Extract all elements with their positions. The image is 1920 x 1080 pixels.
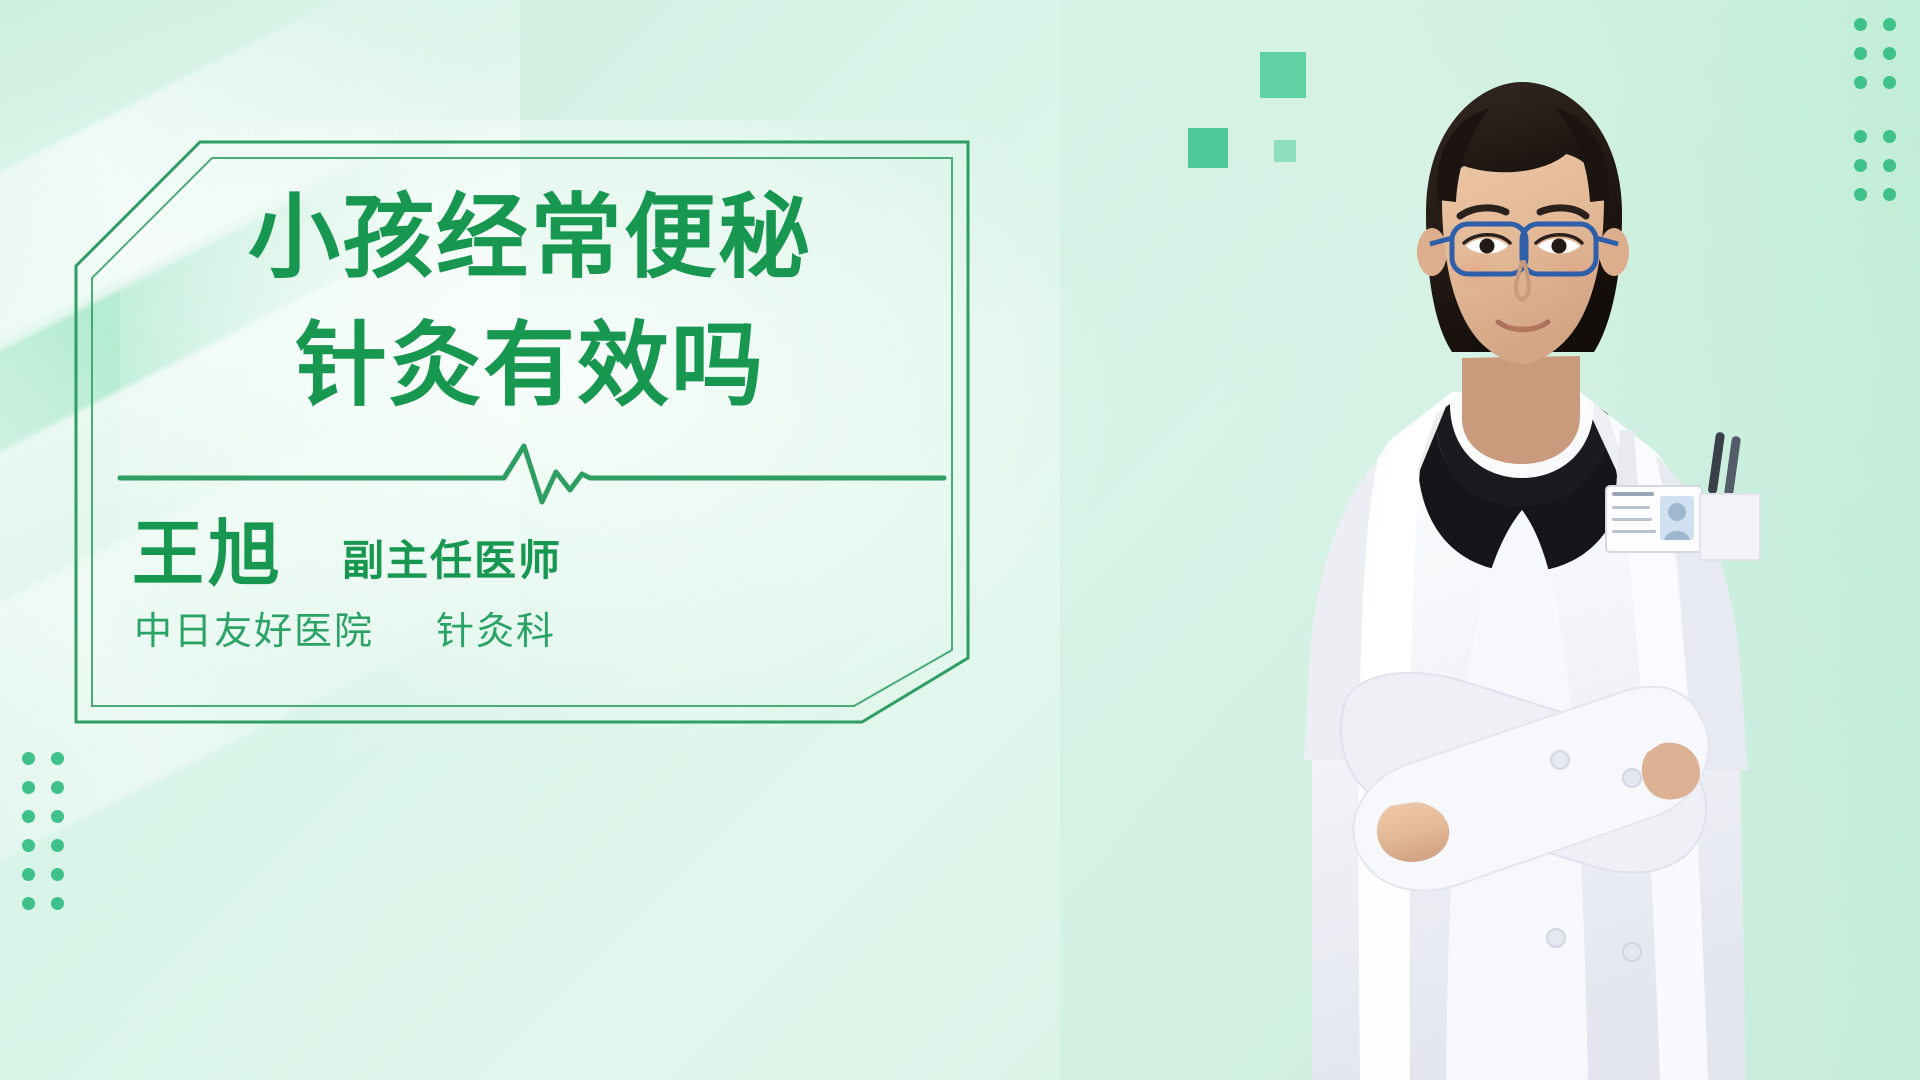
dot: [1854, 188, 1867, 201]
dot-grid-right-top: [1854, 18, 1896, 89]
dot: [1883, 76, 1896, 89]
dot: [51, 868, 64, 881]
department-name: 针灸科: [436, 612, 556, 650]
doctor-affiliation-row: 中日友好医院 针灸科: [134, 612, 556, 650]
dot: [1883, 188, 1896, 201]
badge-line-3: [1612, 518, 1652, 521]
pupil-left: [1480, 239, 1495, 254]
dot: [51, 752, 64, 765]
dot: [1854, 47, 1867, 60]
badge-line-2: [1612, 506, 1650, 509]
dot: [1883, 18, 1896, 31]
coat-button-3: [1547, 929, 1565, 947]
ear-left: [1417, 228, 1447, 276]
coat-button-1: [1551, 751, 1569, 769]
ear-right: [1599, 228, 1629, 276]
glasses-bridge: [1522, 238, 1526, 243]
title-line-1: 小孩经常便秘: [120, 192, 940, 284]
badge-photo-head: [1668, 503, 1686, 521]
decor-square-medium: [1188, 128, 1228, 168]
dot: [1854, 76, 1867, 89]
coat-pocket: [1700, 494, 1760, 560]
doctor-name: 王旭: [132, 518, 284, 590]
dot: [51, 781, 64, 794]
title-line-2: 针灸有效吗: [120, 320, 940, 412]
thumbnail-stage: 小孩经常便秘 针灸有效吗 王旭 副主任医师 中日友好医院 针灸科: [0, 0, 1920, 1080]
heartbeat-divider: [112, 438, 952, 516]
dot: [51, 810, 64, 823]
dot: [1883, 130, 1896, 143]
badge-line-1: [1612, 492, 1654, 496]
badge-line-4: [1612, 530, 1656, 533]
dot: [1883, 47, 1896, 60]
dot-grid-right-bottom: [1854, 130, 1896, 201]
dot: [1883, 159, 1896, 172]
dot: [1854, 18, 1867, 31]
dot: [22, 781, 35, 794]
coat-button-2: [1623, 769, 1641, 787]
dot: [22, 868, 35, 881]
coat-button-4: [1623, 943, 1641, 961]
dot: [51, 897, 64, 910]
doctor-identity-row: 王旭 副主任医师: [132, 518, 562, 590]
dot: [1854, 130, 1867, 143]
neck: [1462, 356, 1580, 464]
doctor-title: 副主任医师: [342, 540, 562, 582]
dot: [22, 897, 35, 910]
dot-grid-bottom-left: [22, 752, 64, 910]
pupil-right: [1552, 239, 1567, 254]
dot: [51, 839, 64, 852]
dot: [22, 810, 35, 823]
dot: [22, 839, 35, 852]
hospital-name: 中日友好医院: [134, 612, 374, 650]
dot: [22, 752, 35, 765]
decor-square-small: [1274, 140, 1296, 162]
heartbeat-path: [120, 446, 944, 502]
decor-square-large: [1260, 52, 1306, 98]
dot: [1854, 159, 1867, 172]
